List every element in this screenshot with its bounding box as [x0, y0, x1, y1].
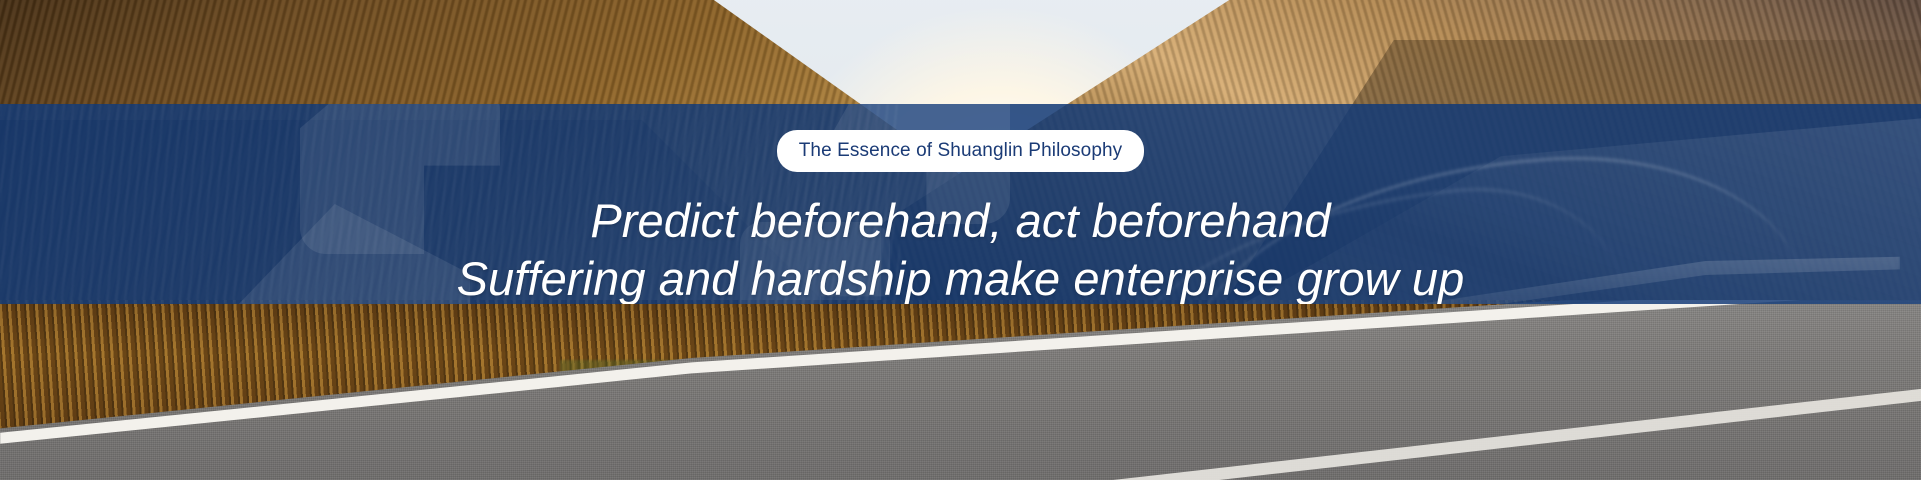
foreground-region	[0, 300, 1921, 480]
hero-banner: The Essence of Shuanglin Philosophy Pred…	[0, 0, 1921, 480]
navy-overlay-band: The Essence of Shuanglin Philosophy Pred…	[0, 104, 1921, 304]
banner-content: The Essence of Shuanglin Philosophy Pred…	[0, 104, 1921, 304]
philosophy-badge: The Essence of Shuanglin Philosophy	[777, 130, 1145, 172]
headline-line-1: Predict beforehand, act beforehand	[590, 194, 1330, 247]
headline-line-2: Suffering and hardship make enterprise g…	[457, 250, 1465, 304]
headline: Predict beforehand, act beforehand Suffe…	[457, 192, 1465, 304]
